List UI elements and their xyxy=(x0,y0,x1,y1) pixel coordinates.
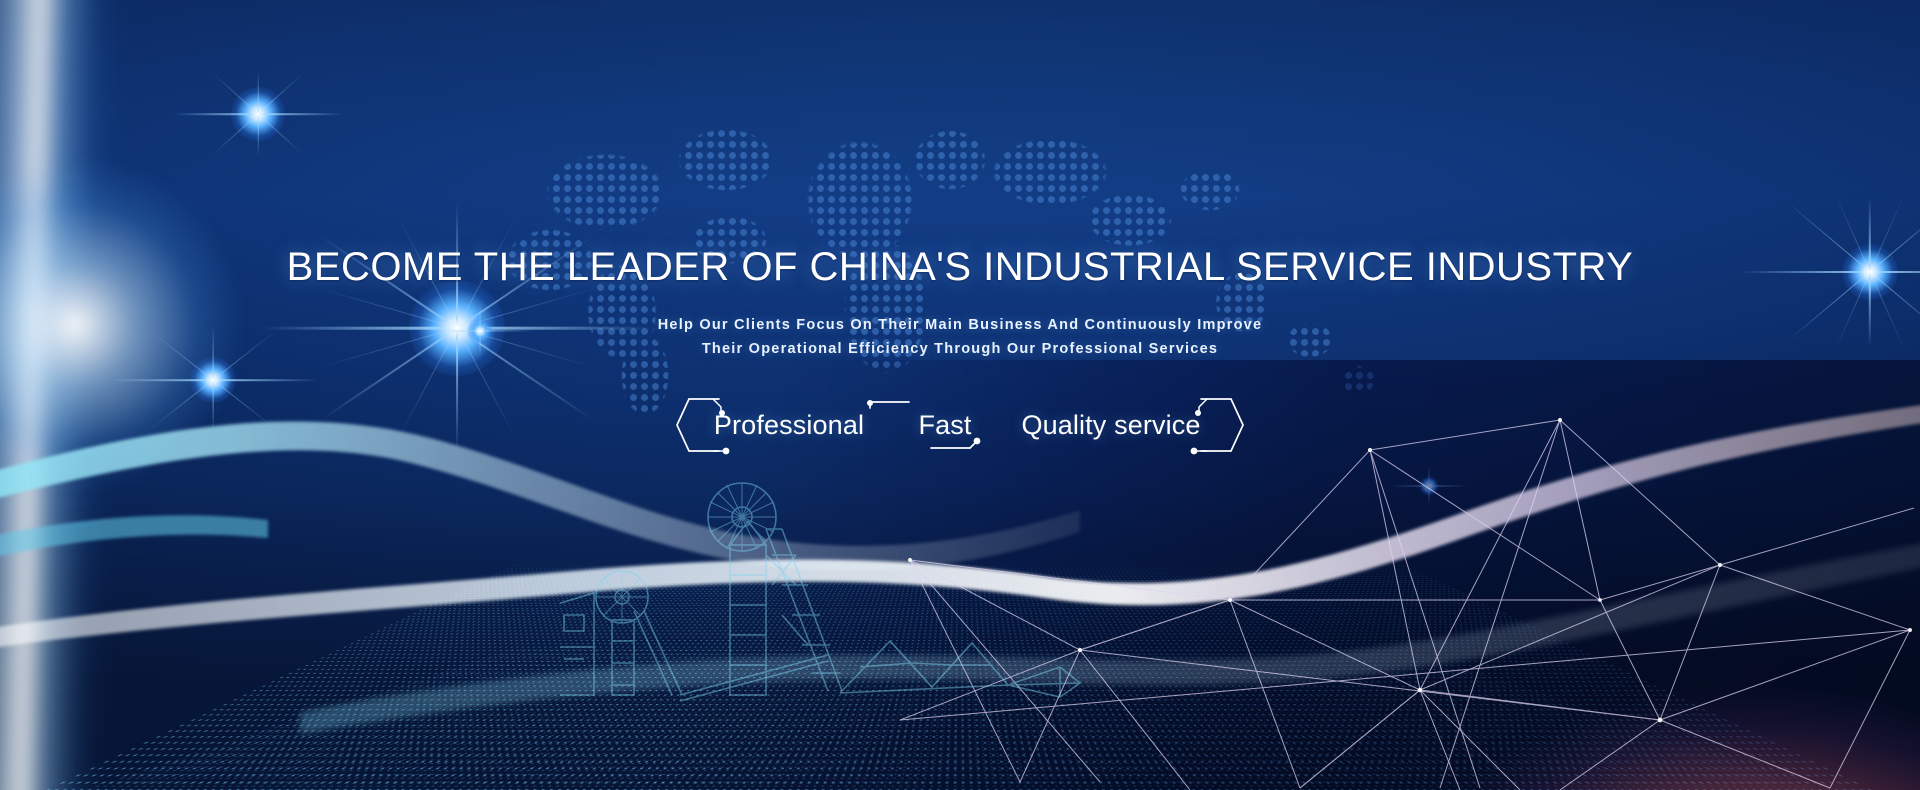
badge-professional-label: Professional xyxy=(714,410,864,441)
banner-subtitle: Help Our Clients Focus On Their Main Bus… xyxy=(0,313,1920,361)
badge-fast-label: Fast xyxy=(918,410,971,441)
bracket-node-bottom xyxy=(723,448,730,455)
banner-content: BECOME THE LEADER OF CHINA'S INDUSTRIAL … xyxy=(0,0,1920,790)
badge-quality-service[interactable]: Quality service xyxy=(1013,390,1243,460)
feature-badge-row: Professional Fast xyxy=(0,390,1920,460)
hero-banner: BECOME THE LEADER OF CHINA'S INDUSTRIAL … xyxy=(0,0,1920,790)
bracket-node-bottom xyxy=(1191,448,1198,455)
page-title: BECOME THE LEADER OF CHINA'S INDUSTRIAL … xyxy=(0,245,1920,290)
subtitle-line-2: Their Operational Efficiency Through Our… xyxy=(0,337,1920,361)
badge-quality-service-label: Quality service xyxy=(1021,410,1200,441)
badge-professional[interactable]: Professional xyxy=(677,390,863,460)
badge-fast[interactable]: Fast xyxy=(863,390,1013,460)
corner-node-bottomright xyxy=(974,438,981,445)
subtitle-line-1: Help Our Clients Focus On Their Main Bus… xyxy=(0,313,1920,337)
corner-node-topleft xyxy=(867,400,873,406)
